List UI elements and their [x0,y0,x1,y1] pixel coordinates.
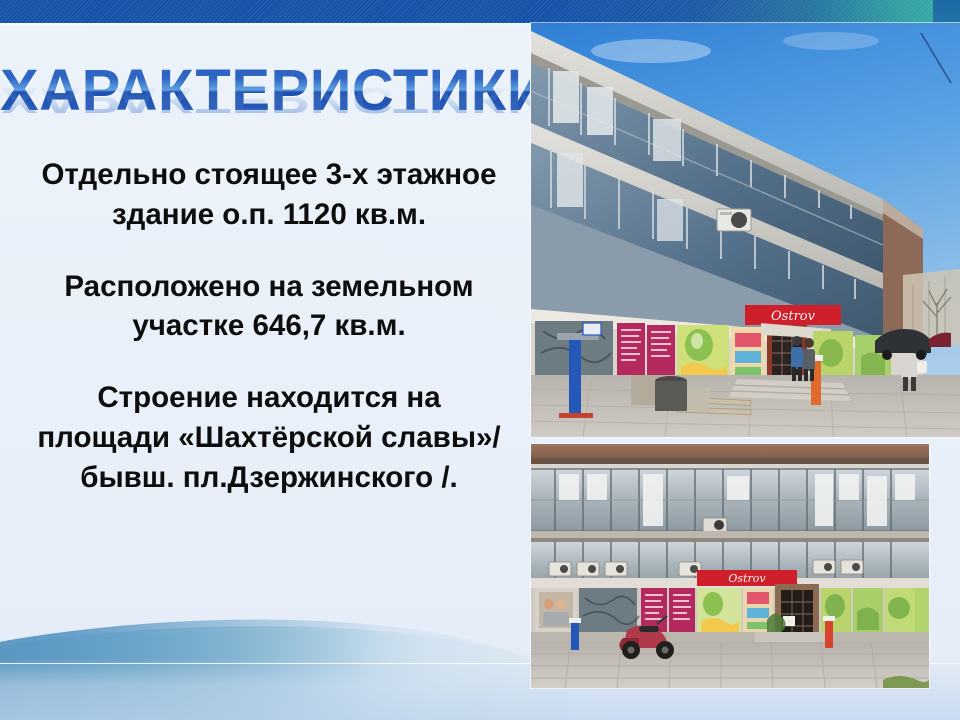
photo-bottom-artwork: Ostrov [531,444,929,688]
paragraph-building-area: Отдельно стоящее 3-х этажное здание о.п.… [30,155,508,235]
title-block: ХАРАКТЕРИСТИКИ ХАРАКТЕРИСТИКИ [0,62,530,157]
paragraph-location: Строение находится на площади «Шахтёрско… [30,378,508,497]
body-text-block: Отдельно стоящее 3-х этажное здание о.п.… [30,155,508,498]
slide-characteristics: ХАРАКТЕРИСТИКИ ХАРАКТЕРИСТИКИ Отдельно с… [0,0,960,720]
svg-text:Ostrov: Ostrov [728,572,766,585]
photo-top-artwork: Ostrov [531,23,960,437]
photo-building-facade-frontal-view: Ostrov [531,444,929,688]
paragraph-land-plot: Расположено на земельном участке 646,7 к… [30,267,508,347]
photo-building-exterior-upward-view: Ostrov [531,23,960,437]
top-decorative-band [0,0,960,23]
page-title: ХАРАКТЕРИСТИКИ [0,62,530,120]
svg-text:Ostrov: Ostrov [771,309,816,324]
